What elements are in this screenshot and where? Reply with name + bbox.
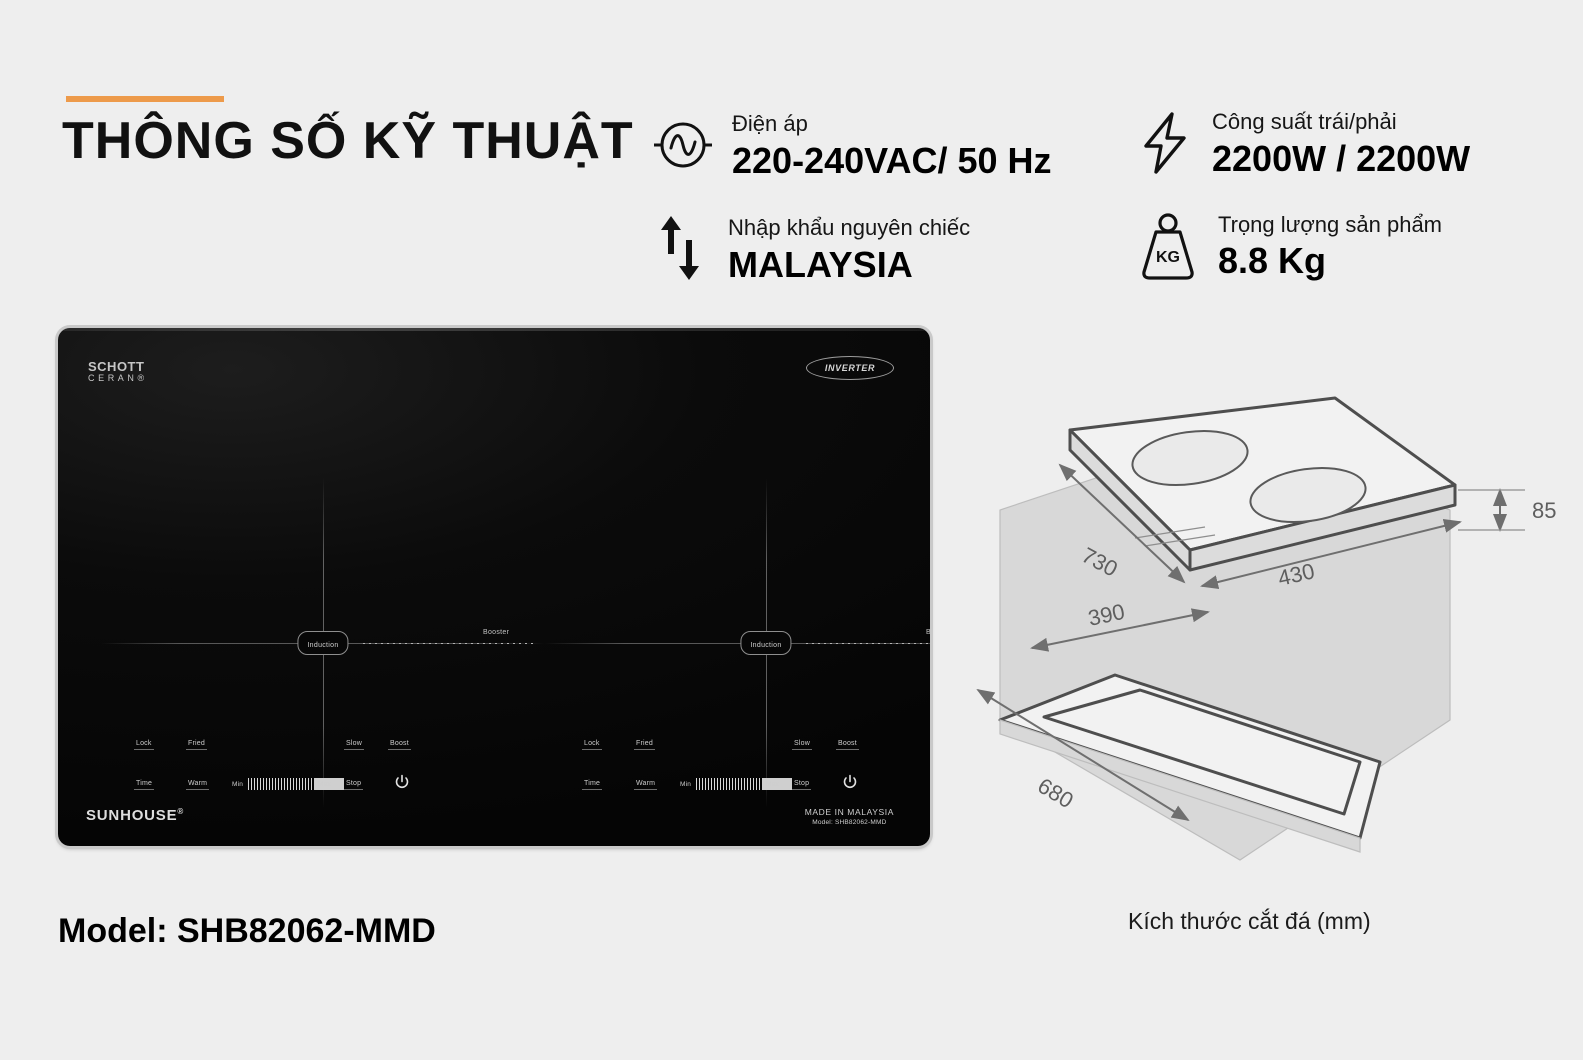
sunhouse-logo: SUNHOUSE® (86, 807, 184, 824)
made-in-text: MADE IN MALAYSIA (805, 807, 894, 817)
spec-origin: Nhập khẩu nguyên chiếc MALAYSIA (652, 214, 970, 285)
made-in-plate: MADE IN MALAYSIA Model: SHB82062-MMD (805, 807, 894, 826)
control-boost-button[interactable]: Boost (390, 740, 409, 747)
control-slider-min-label: Min (232, 781, 243, 788)
power-button-icon[interactable] (842, 774, 858, 790)
cooktop-glass-surface: SCHOTT CERAN® INVERTER Induction Booster… (58, 328, 930, 846)
schott-logo-line2: CERAN® (88, 374, 148, 383)
spec-power-value: 2200W / 2200W (1212, 138, 1470, 179)
schott-ceran-logo: SCHOTT CERAN® (88, 360, 148, 383)
spec-voltage: Điện áp 220-240VAC/ 50 Hz (652, 110, 1052, 181)
drawing-caption: Kích thước cắt đá (mm) (1128, 908, 1371, 935)
control-fried-button[interactable]: Fried (636, 740, 653, 747)
control-slow-button[interactable]: Slow (794, 740, 810, 747)
spec-origin-value: MALAYSIA (728, 244, 970, 285)
control-panel-right[interactable]: Lock Fried Slow Boost Time Warm Stop Min… (576, 732, 886, 810)
control-warm-button[interactable]: Warm (636, 780, 655, 787)
control-lock-button[interactable]: Lock (584, 740, 600, 747)
accent-bar (66, 96, 224, 102)
inverter-badge-label: INVERTER (825, 363, 875, 373)
control-slider-max-label: Max (318, 781, 331, 788)
zone-induction-text: Induction (750, 642, 781, 649)
dim-height-text: 85 (1532, 498, 1556, 523)
control-boost-button[interactable]: Boost (838, 740, 857, 747)
inverter-badge: INVERTER (806, 356, 894, 380)
weight-kg-icon: KG (1136, 210, 1200, 282)
zone-induction-label: Induction (297, 631, 348, 655)
lightning-bolt-icon (1136, 110, 1194, 176)
cutout-technical-drawing: .ln{fill:none;stroke:#4e4e4e;stroke-widt… (940, 390, 1560, 890)
registered-mark: ® (177, 807, 184, 816)
control-time-button[interactable]: Time (136, 780, 152, 787)
ac-voltage-icon (652, 114, 714, 176)
control-stop-button[interactable]: Stop (346, 780, 361, 787)
control-time-button[interactable]: Time (584, 780, 600, 787)
svg-text:KG: KG (1156, 249, 1180, 266)
spec-weight-value: 8.8 Kg (1218, 240, 1442, 281)
control-stop-button[interactable]: Stop (794, 780, 809, 787)
control-lock-button[interactable]: Lock (136, 740, 152, 747)
model-label: Model: SHB82062-MMD (58, 912, 436, 951)
control-slow-button[interactable]: Slow (346, 740, 362, 747)
import-arrows-icon (652, 216, 710, 282)
control-warm-button[interactable]: Warm (188, 780, 207, 787)
zone-booster-track (806, 643, 930, 644)
spec-voltage-value: 220-240VAC/ 50 Hz (732, 140, 1052, 181)
sunhouse-logo-text: SUNHOUSE (86, 807, 177, 824)
spec-weight-label: Trọng lượng sản phẩm (1218, 211, 1442, 239)
zone-booster-label: Booster (483, 629, 509, 636)
spec-power-label: Công suất trái/phải (1212, 108, 1470, 136)
control-slider-max-label: Max (766, 781, 779, 788)
zone-induction-text: Induction (307, 642, 338, 649)
dim-cutout-width-text: 680 (1033, 773, 1077, 813)
spec-origin-label: Nhập khẩu nguyên chiếc (728, 214, 970, 242)
page-title: THÔNG SỐ KỸ THUẬT (62, 112, 634, 172)
schott-logo-line1: SCHOTT (88, 360, 148, 374)
model-plate-text: Model: SHB82062-MMD (805, 819, 894, 826)
spec-power: Công suất trái/phải 2200W / 2200W (1136, 108, 1470, 179)
power-button-icon[interactable] (394, 774, 410, 790)
zone-induction-label: Induction (740, 631, 791, 655)
zone-booster-track (363, 643, 533, 644)
zone-booster-label: Booster (926, 629, 930, 636)
header-section: THÔNG SỐ KỸ THUẬT Điện áp 220-240VAC/ 50… (0, 0, 1583, 320)
control-fried-button[interactable]: Fried (188, 740, 205, 747)
cooktop-product-image: SCHOTT CERAN® INVERTER Induction Booster… (58, 328, 930, 846)
spec-weight: KG Trọng lượng sản phẩm 8.8 Kg (1136, 210, 1442, 282)
spec-voltage-label: Điện áp (732, 110, 1052, 138)
control-panel-left[interactable]: Lock Fried Slow Boost Time Warm Stop Min… (128, 732, 438, 810)
control-slider-min-label: Min (680, 781, 691, 788)
